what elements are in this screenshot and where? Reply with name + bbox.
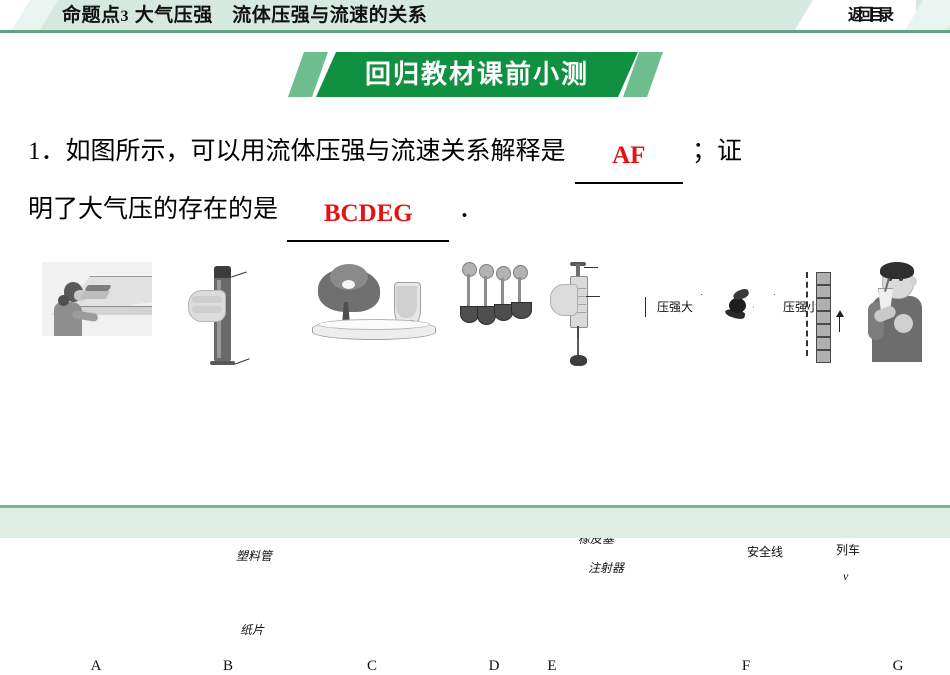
header-underline	[0, 30, 950, 33]
syringe-needle-shape	[577, 326, 579, 338]
train-car	[816, 324, 831, 337]
tray-rim-shape	[318, 319, 430, 330]
figure-caption-a: A	[76, 658, 116, 675]
figure-caption-f: F	[726, 658, 766, 675]
back-to-contents-button[interactable]: 返回目录	[838, 3, 904, 28]
finger-shape-1	[192, 296, 222, 303]
figure-caption-b: B	[208, 658, 248, 675]
label-paper-slip: 纸片	[240, 621, 264, 638]
train-car	[816, 285, 831, 298]
leader-line-tube	[231, 272, 247, 278]
figure-caption-e: E	[532, 658, 572, 675]
ladle-bowl	[511, 302, 532, 319]
page-header: 命题点3 大气压强 流体压强与流速的关系 返回目录	[0, 0, 950, 33]
train-car	[816, 298, 831, 311]
bonsai-canopy-gap-shape	[342, 280, 355, 289]
question-line-2: 明了大气压的存在的是 BCDEG ．	[28, 184, 928, 242]
boy-shirt-logo-shape	[894, 314, 913, 333]
section-banner: 回归教材课前小测	[288, 52, 663, 97]
ladle-stem	[501, 278, 504, 306]
label-train: 列车	[836, 541, 860, 558]
boy-ear-shape	[910, 277, 917, 286]
page-title-main: 命题点	[62, 5, 121, 26]
leader-line-stopper	[584, 267, 598, 268]
question-text-1-tail: ；证	[692, 138, 742, 165]
question-text-2: 明了大气压的存在的是	[28, 196, 278, 223]
train-car	[816, 311, 831, 324]
girl-hair-bun-shape	[58, 295, 69, 306]
figure-b-image	[188, 262, 254, 368]
banner-label: 回归教材课前小测	[316, 52, 638, 97]
tube-cap-shape	[214, 266, 231, 278]
page-title: 命题点3 大气压强 流体压强与流速的关系	[62, 2, 427, 30]
velocity-arrow-shape	[836, 310, 846, 332]
ladle-stem	[467, 274, 470, 308]
leader-line-syringe	[586, 296, 600, 297]
page-footer	[0, 505, 950, 538]
label-plastic-tube: 塑料管	[236, 547, 272, 564]
question-block: 1．如图所示，可以用流体压强与流速关系解释是 AF ；证 明了大气压的存在的是 …	[28, 126, 928, 242]
figure-caption-g: G	[878, 658, 918, 675]
figure-d-image	[462, 262, 534, 332]
label-safety-line: 安全线	[747, 543, 783, 560]
finger-shape-2	[192, 306, 222, 313]
figure-g-image	[866, 262, 928, 362]
question-text-1: 如图所示，可以用流体压强与流速关系解释是	[66, 138, 566, 165]
figure-f-image: 压强大 压强小	[645, 262, 845, 362]
figure-e-image	[548, 262, 616, 370]
figure-c-image	[312, 262, 434, 346]
train-car	[816, 272, 831, 285]
paper-strip-shape	[84, 285, 111, 291]
bird-body-shape	[729, 298, 746, 313]
page-title-rest: 大气压强 流体压强与流速的关系	[135, 5, 428, 26]
bird-wing-shape	[732, 288, 750, 302]
question-text-2-tail: ．	[459, 196, 484, 223]
leader-line-paper	[234, 358, 249, 364]
figure-caption-d: D	[474, 658, 514, 675]
figure-a-image	[42, 262, 152, 336]
figure-caption-c: C	[352, 658, 392, 675]
hand-shape	[550, 284, 578, 316]
ladle-stem	[484, 276, 487, 308]
glass-water-shape	[396, 286, 417, 318]
train-car	[816, 337, 831, 350]
question-number: 1．	[28, 138, 66, 165]
question-line-1: 1．如图所示，可以用流体压强与流速关系解释是 AF ；证	[28, 126, 928, 184]
bird-shape	[723, 290, 753, 322]
train-car	[816, 350, 831, 363]
label-high-pressure: 压强大	[649, 297, 701, 317]
hanging-weight-shape	[570, 355, 587, 366]
boy-hair-shape	[880, 262, 914, 279]
label-syringe: 注射器	[588, 559, 624, 576]
train-shape	[816, 272, 832, 358]
answer-blank-2[interactable]: BCDEG	[287, 188, 449, 242]
hanging-thread-shape	[577, 338, 579, 356]
page-title-number: 3	[121, 8, 130, 25]
boy-eye-shape	[899, 278, 903, 281]
ladle-stem	[518, 277, 521, 304]
paper-slip-shape	[210, 361, 235, 365]
answer-blank-1[interactable]: AF	[575, 130, 683, 184]
paper-sheet-shape	[80, 291, 110, 299]
figure-strip: 塑料管 纸片	[0, 262, 950, 412]
label-velocity: v	[843, 569, 848, 584]
